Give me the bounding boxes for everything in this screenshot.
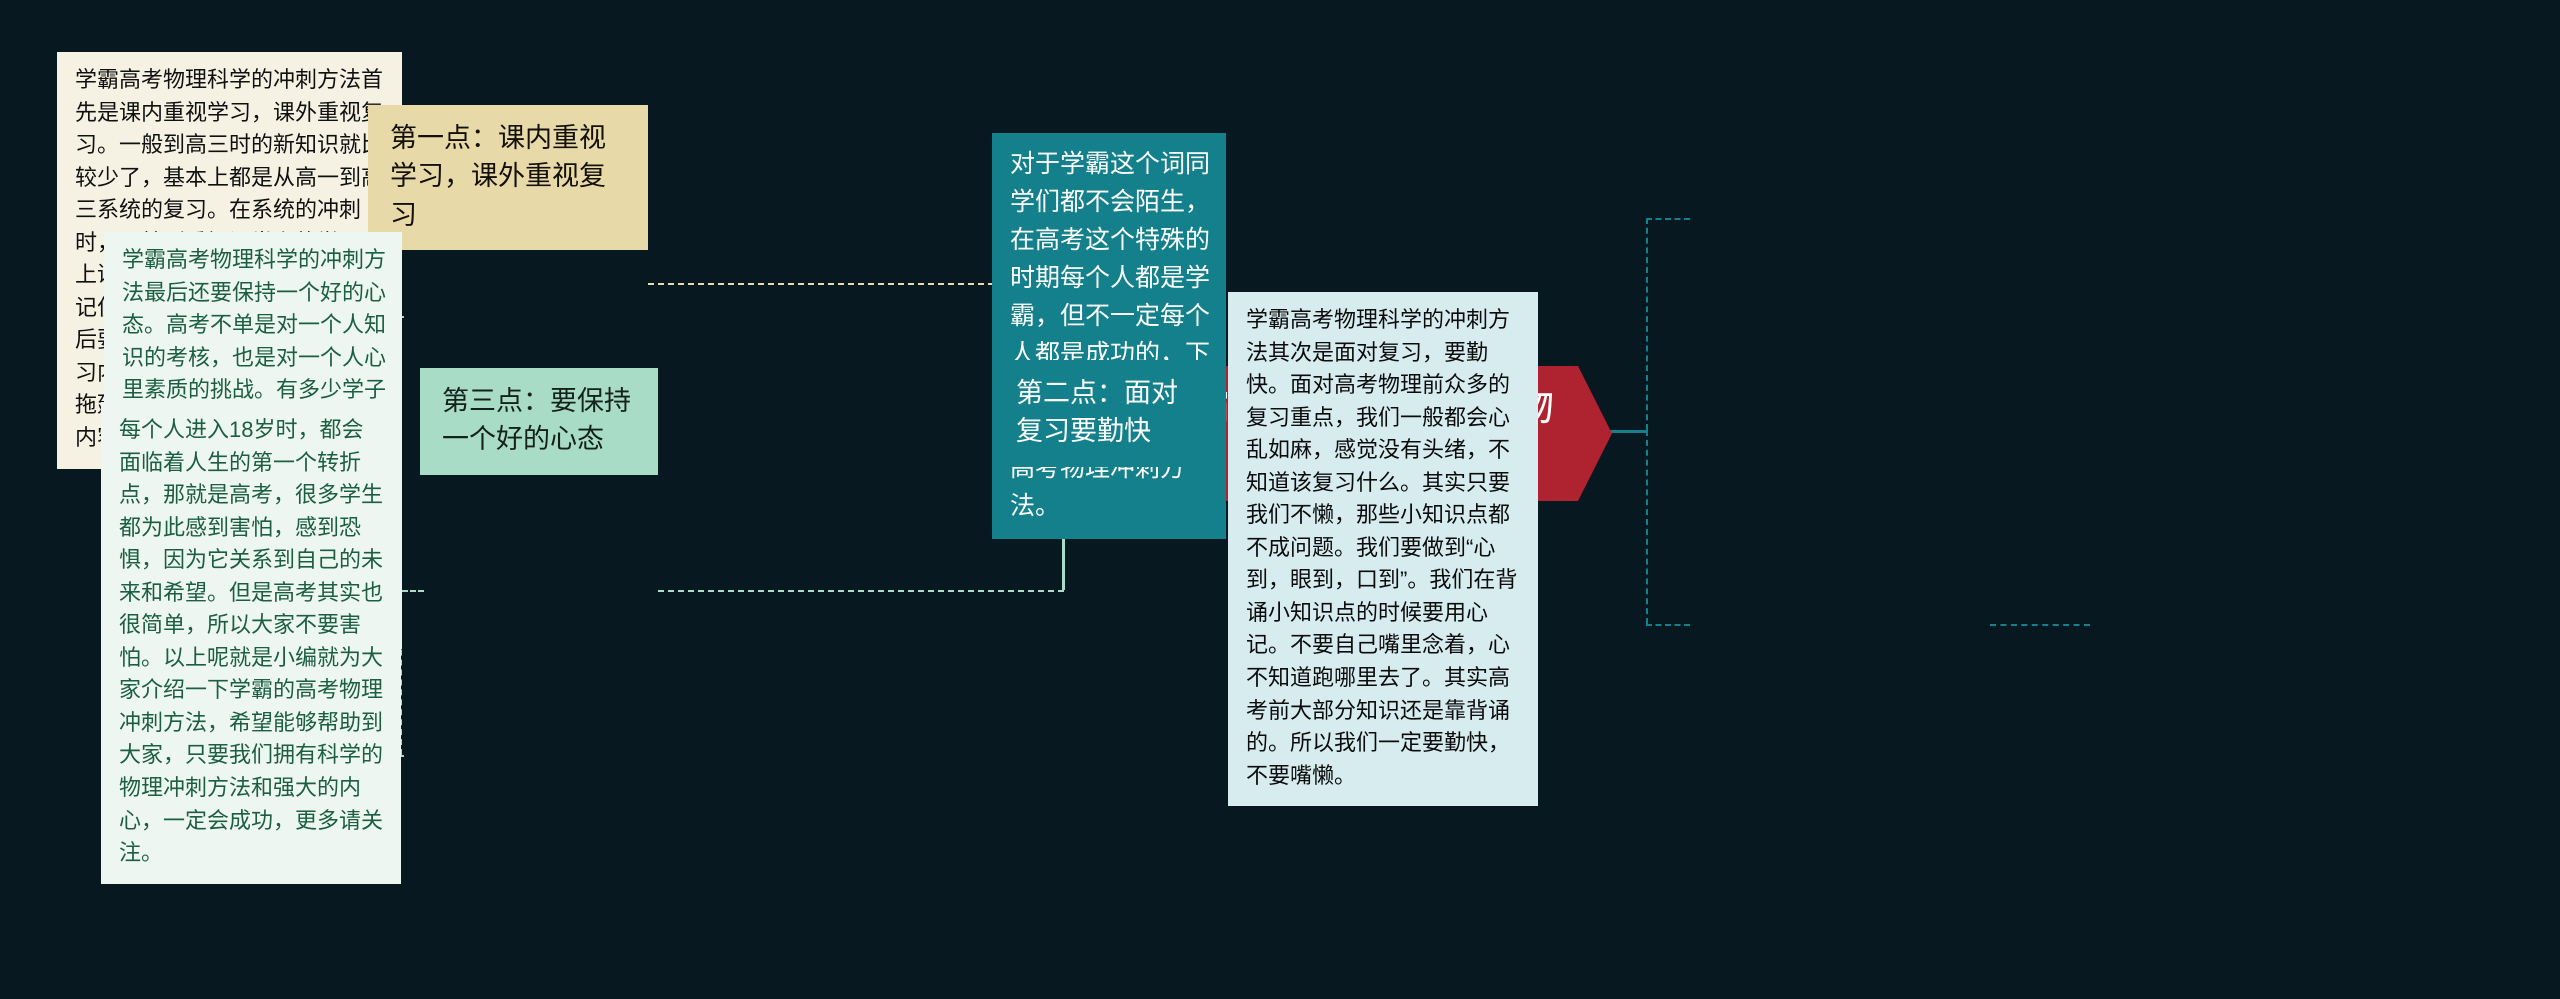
- leaf-detail-point3-b[interactable]: 每个人进入18岁时，都会面临着人生的第一个转折点，那就是高考，很多学生都为此感到…: [101, 402, 401, 884]
- connector-chip2-to-root: [1646, 624, 1690, 626]
- root-right-stub: [1610, 430, 1648, 433]
- right-trunk-lower: [1646, 430, 1648, 624]
- branch-label-point3[interactable]: 第三点：要保持一个好的心态: [420, 368, 658, 475]
- right-trunk-upper: [1646, 218, 1648, 430]
- branch-label-point2[interactable]: 第二点：面对复习要勤快: [994, 360, 1210, 467]
- mindmap-canvas: 学霸教你科学的高考物理冲刺方法 学霸高考物理科学的冲刺方法首先是课内重视学习，课…: [0, 0, 2560, 999]
- connector-chip3-to-root: [658, 590, 1064, 592]
- leaf-detail-point2[interactable]: 学霸高考物理科学的冲刺方法其次是面对复习，要勤快。面对高考物理前众多的复习重点，…: [1228, 292, 1538, 806]
- connector-chip3-left-stub: [402, 590, 424, 592]
- connector-chip2-to-leaf5: [1990, 624, 2090, 626]
- branch-label-point1[interactable]: 第一点：课内重视学习，课外重视复习: [368, 105, 648, 250]
- connector-intro-to-root: [1646, 218, 1690, 220]
- leaf-intro[interactable]: 对于学霸这个词同学们都不会陌生，在高考这个特殊的时期每个人都是学霸，但不一定每个…: [992, 133, 1226, 539]
